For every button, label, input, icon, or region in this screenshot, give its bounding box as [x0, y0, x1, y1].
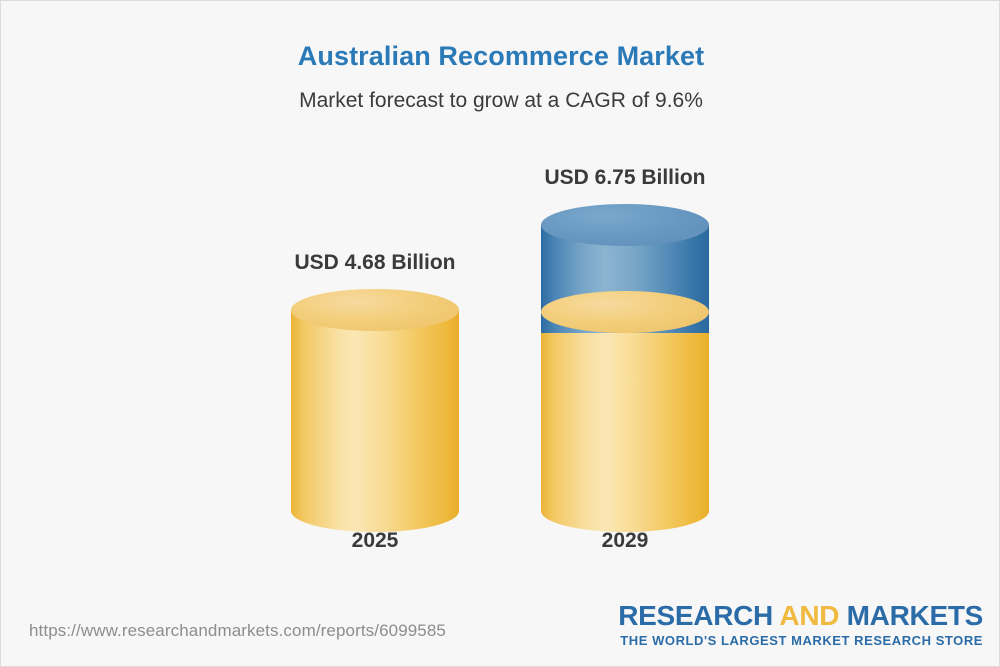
category-label-2029: 2029 [541, 529, 709, 553]
logo-text-markets: MARKETS [839, 600, 983, 631]
category-label-2025: 2025 [291, 529, 459, 553]
cylinder-top-ellipse-2025 [291, 289, 459, 331]
cylinder-bottom-ellipse-2029 [541, 490, 709, 532]
chart-canvas: Australian Recommerce Market Market fore… [0, 0, 1000, 667]
value-label-2029: USD 6.75 Billion [505, 166, 745, 190]
logo-tagline: THE WORLD'S LARGEST MARKET RESEARCH STOR… [618, 633, 983, 648]
logo-wordmark: RESEARCH AND MARKETS [618, 601, 983, 630]
cylinder-bottom-ellipse-2025 [291, 490, 459, 532]
value-label-2025: USD 4.68 Billion [255, 251, 495, 275]
cylinder-top-ellipse-2029 [541, 204, 709, 246]
cylinder-body-2029-base [541, 312, 709, 511]
plot-area: USD 4.68 Billion 2025 USD 6.75 Billion [1, 1, 1000, 601]
cylinder-base-top-ellipse-2029 [541, 291, 709, 333]
research-and-markets-logo[interactable]: RESEARCH AND MARKETS THE WORLD'S LARGEST… [618, 601, 983, 648]
logo-text-research: RESEARCH [618, 600, 779, 631]
logo-text-and: AND [779, 600, 839, 631]
cylinder-body-2025 [291, 310, 459, 511]
cylinder-2025-base[interactable] [291, 289, 459, 532]
source-url[interactable]: https://www.researchandmarkets.com/repor… [29, 621, 446, 641]
